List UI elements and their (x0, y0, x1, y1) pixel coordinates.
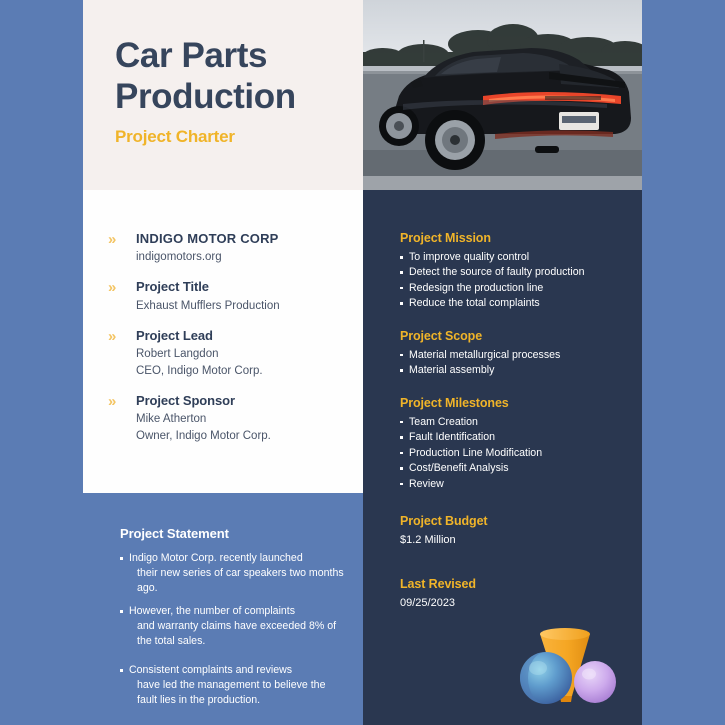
info-line: indigomotors.org (136, 249, 358, 266)
list-item: Production Line Modification (400, 446, 632, 461)
double-chevron-icon: » (108, 280, 114, 295)
info-heading: Project Lead (136, 328, 358, 344)
statement-rest: and warranty claims have exceeded 8% of … (129, 619, 345, 649)
info-heading: INDIGO MOTOR CORP (136, 231, 358, 247)
double-chevron-icon: » (108, 329, 114, 344)
page-title: Car Parts Production Project Charter (115, 36, 365, 147)
section-project-budget: Project Budget $1.2 Million (400, 514, 632, 549)
list-item: Redesign the production line (400, 281, 632, 296)
list-item: However, the number of complaints and wa… (120, 604, 345, 649)
section-project-milestones: Project Milestones Team Creation Fault I… (400, 396, 632, 492)
project-statement: Project Statement Indigo Motor Corp. rec… (120, 526, 345, 716)
shapes-svg (512, 612, 632, 712)
section-heading: Last Revised (400, 577, 632, 591)
last-revised-value: 09/25/2023 (400, 596, 632, 612)
info-heading: Project Sponsor (136, 393, 358, 409)
section-last-revised: Last Revised 09/25/2023 (400, 577, 632, 612)
hero-photo (363, 0, 642, 190)
list-item: Review (400, 477, 632, 492)
list-item: Fault Identification (400, 430, 632, 445)
section-heading: Project Milestones (400, 396, 632, 410)
blue-sphere-shape (520, 652, 572, 704)
project-charter-poster: Car Parts Production Project Charter » I… (0, 0, 725, 725)
list-item: Detect the source of faulty production (400, 265, 632, 280)
purple-sphere-shape (574, 661, 616, 703)
section-heading: Project Scope (400, 329, 632, 343)
budget-value: $1.2 Million (400, 533, 632, 549)
list-item: Cost/Benefit Analysis (400, 461, 632, 476)
info-line: Owner, Indigo Motor Corp. (136, 428, 358, 445)
info-line: Exhaust Mufflers Production (136, 298, 358, 315)
list-item: To improve quality control (400, 250, 632, 265)
car-illustration (363, 0, 642, 190)
info-line: Robert Langdon (136, 346, 358, 363)
statement-first-line: Consistent complaints and reviews (129, 664, 292, 676)
list-item: Team Creation (400, 415, 632, 430)
list-item: Indigo Motor Corp. recently launched the… (120, 551, 345, 596)
mission-list: To improve quality control Detect the so… (400, 250, 632, 312)
statement-first-line: Indigo Motor Corp. recently launched (129, 552, 303, 564)
info-item-project-lead: » Project Lead Robert Langdon CEO, Indig… (108, 328, 358, 380)
list-item: Material assembly (400, 363, 632, 378)
statement-first-line: However, the number of complaints (129, 605, 295, 617)
section-project-scope: Project Scope Material metallurgical pro… (400, 329, 632, 379)
info-item-company: » INDIGO MOTOR CORP indigomotors.org (108, 231, 358, 266)
statement-list: Indigo Motor Corp. recently launched the… (120, 551, 345, 708)
section-heading: Project Budget (400, 514, 632, 528)
list-item: Consistent complaints and reviews have l… (120, 663, 345, 708)
3d-shapes-graphic (512, 612, 632, 712)
project-details: Project Mission To improve quality contr… (400, 231, 632, 629)
info-line: Mike Atherton (136, 411, 358, 428)
title-line-2: Production (115, 77, 365, 118)
info-item-project-title: » Project Title Exhaust Mufflers Product… (108, 279, 358, 314)
scope-list: Material metallurgical processes Materia… (400, 348, 632, 379)
info-line: CEO, Indigo Motor Corp. (136, 363, 358, 380)
section-heading: Project Mission (400, 231, 632, 245)
statement-rest: their new series of car speakers two mon… (129, 566, 345, 596)
page-subtitle: Project Charter (115, 127, 365, 147)
info-heading: Project Title (136, 279, 358, 295)
statement-rest: have led the management to believe the f… (129, 678, 345, 708)
section-project-mission: Project Mission To improve quality contr… (400, 231, 632, 312)
title-line-1: Car Parts (115, 36, 365, 77)
company-info-list: » INDIGO MOTOR CORP indigomotors.org » P… (108, 231, 358, 458)
list-item: Reduce the total complaints (400, 296, 632, 311)
double-chevron-icon: » (108, 394, 114, 409)
double-chevron-icon: » (108, 232, 114, 247)
statement-heading: Project Statement (120, 526, 345, 541)
info-item-project-sponsor: » Project Sponsor Mike Atherton Owner, I… (108, 393, 358, 445)
milestones-list: Team Creation Fault Identification Produ… (400, 415, 632, 492)
list-item: Material metallurgical processes (400, 348, 632, 363)
